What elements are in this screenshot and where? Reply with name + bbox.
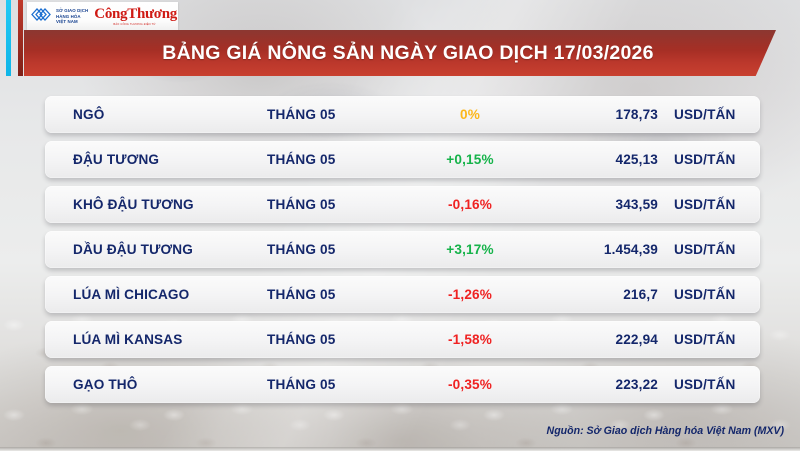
mxv-logo-icon <box>30 6 52 28</box>
accent-rail-cyan <box>6 0 11 76</box>
change-percent: -0,35% <box>400 377 540 392</box>
change-percent: +0,15% <box>400 152 540 167</box>
contract-month: THÁNG 05 <box>267 197 400 212</box>
mxv-line-3: VIỆT NAM <box>56 19 88 24</box>
price-unit: USD/TẤN <box>658 377 758 392</box>
accent-rail-red <box>18 0 23 76</box>
table-row[interactable]: NGÔTHÁNG 050%178,73USD/TẤN <box>45 96 760 133</box>
logo-bar: SỞ GIAO DỊCH HÀNG HÓA VIỆT NAM CôngThươn… <box>27 2 178 31</box>
commodity-name: DẦU ĐẬU TƯƠNG <box>45 242 267 257</box>
commodity-name: KHÔ ĐẬU TƯƠNG <box>45 197 267 212</box>
change-percent: -0,16% <box>400 197 540 212</box>
table-row[interactable]: LÚA MÌ CHICAGOTHÁNG 05-1,26%216,7USD/TẤN <box>45 276 760 313</box>
price-value: 1.454,39 <box>540 242 658 257</box>
commodity-name: LÚA MÌ KANSAS <box>45 332 267 347</box>
price-value: 223,22 <box>540 377 658 392</box>
price-unit: USD/TẤN <box>658 242 758 257</box>
page-title: BẢNG GIÁ NÔNG SẢN NGÀY GIAO DỊCH 17/03/2… <box>146 42 654 65</box>
contract-month: THÁNG 05 <box>267 152 400 167</box>
congthuong-wordmark: CôngThương <box>94 7 177 22</box>
price-value: 425,13 <box>540 152 658 167</box>
commodity-name: ĐẬU TƯƠNG <box>45 152 267 167</box>
commodity-name: NGÔ <box>45 107 267 122</box>
title-banner: BẢNG GIÁ NÔNG SẢN NGÀY GIAO DỊCH 17/03/2… <box>24 30 776 76</box>
price-value: 222,94 <box>540 332 658 347</box>
price-unit: USD/TẤN <box>658 107 758 122</box>
mxv-logo-text: SỞ GIAO DỊCH HÀNG HÓA VIỆT NAM <box>56 8 88 24</box>
price-table: NGÔTHÁNG 050%178,73USD/TẤNĐẬU TƯƠNGTHÁNG… <box>45 96 760 403</box>
source-credit: Nguồn: Sở Giao dịch Hàng hóa Việt Nam (M… <box>547 425 784 437</box>
table-row[interactable]: DẦU ĐẬU TƯƠNGTHÁNG 05+3,17%1.454,39USD/T… <box>45 231 760 268</box>
price-unit: USD/TẤN <box>658 287 758 302</box>
price-unit: USD/TẤN <box>658 152 758 167</box>
congthuong-tagline: BÁO CÔNG THƯƠNG ĐIỆN TỬ <box>92 23 177 26</box>
price-value: 178,73 <box>540 107 658 122</box>
commodity-name: LÚA MÌ CHICAGO <box>45 287 267 302</box>
change-percent: -1,26% <box>400 287 540 302</box>
table-row[interactable]: ĐẬU TƯƠNGTHÁNG 05+0,15%425,13USD/TẤN <box>45 141 760 178</box>
contract-month: THÁNG 05 <box>267 332 400 347</box>
change-percent: +3,17% <box>400 242 540 257</box>
price-unit: USD/TẤN <box>658 197 758 212</box>
contract-month: THÁNG 05 <box>267 287 400 302</box>
change-percent: -1,58% <box>400 332 540 347</box>
price-unit: USD/TẤN <box>658 332 758 347</box>
price-value: 343,59 <box>540 197 658 212</box>
table-row[interactable]: GẠO THÔTHÁNG 05-0,35%223,22USD/TẤN <box>45 366 760 403</box>
table-row[interactable]: KHÔ ĐẬU TƯƠNGTHÁNG 05-0,16%343,59USD/TẤN <box>45 186 760 223</box>
table-row[interactable]: LÚA MÌ KANSASTHÁNG 05-1,58%222,94USD/TẤN <box>45 321 760 358</box>
price-value: 216,7 <box>540 287 658 302</box>
change-percent: 0% <box>400 107 540 122</box>
commodity-name: GẠO THÔ <box>45 377 267 392</box>
contract-month: THÁNG 05 <box>267 107 400 122</box>
congthuong-logo: CôngThương BÁO CÔNG THƯƠNG ĐIỆN TỬ <box>92 7 177 26</box>
infographic-root: SỞ GIAO DỊCH HÀNG HÓA VIỆT NAM CôngThươn… <box>0 0 800 451</box>
contract-month: THÁNG 05 <box>267 377 400 392</box>
bottom-edge <box>0 447 800 451</box>
contract-month: THÁNG 05 <box>267 242 400 257</box>
mxv-line-1: SỞ GIAO DỊCH <box>56 8 88 13</box>
